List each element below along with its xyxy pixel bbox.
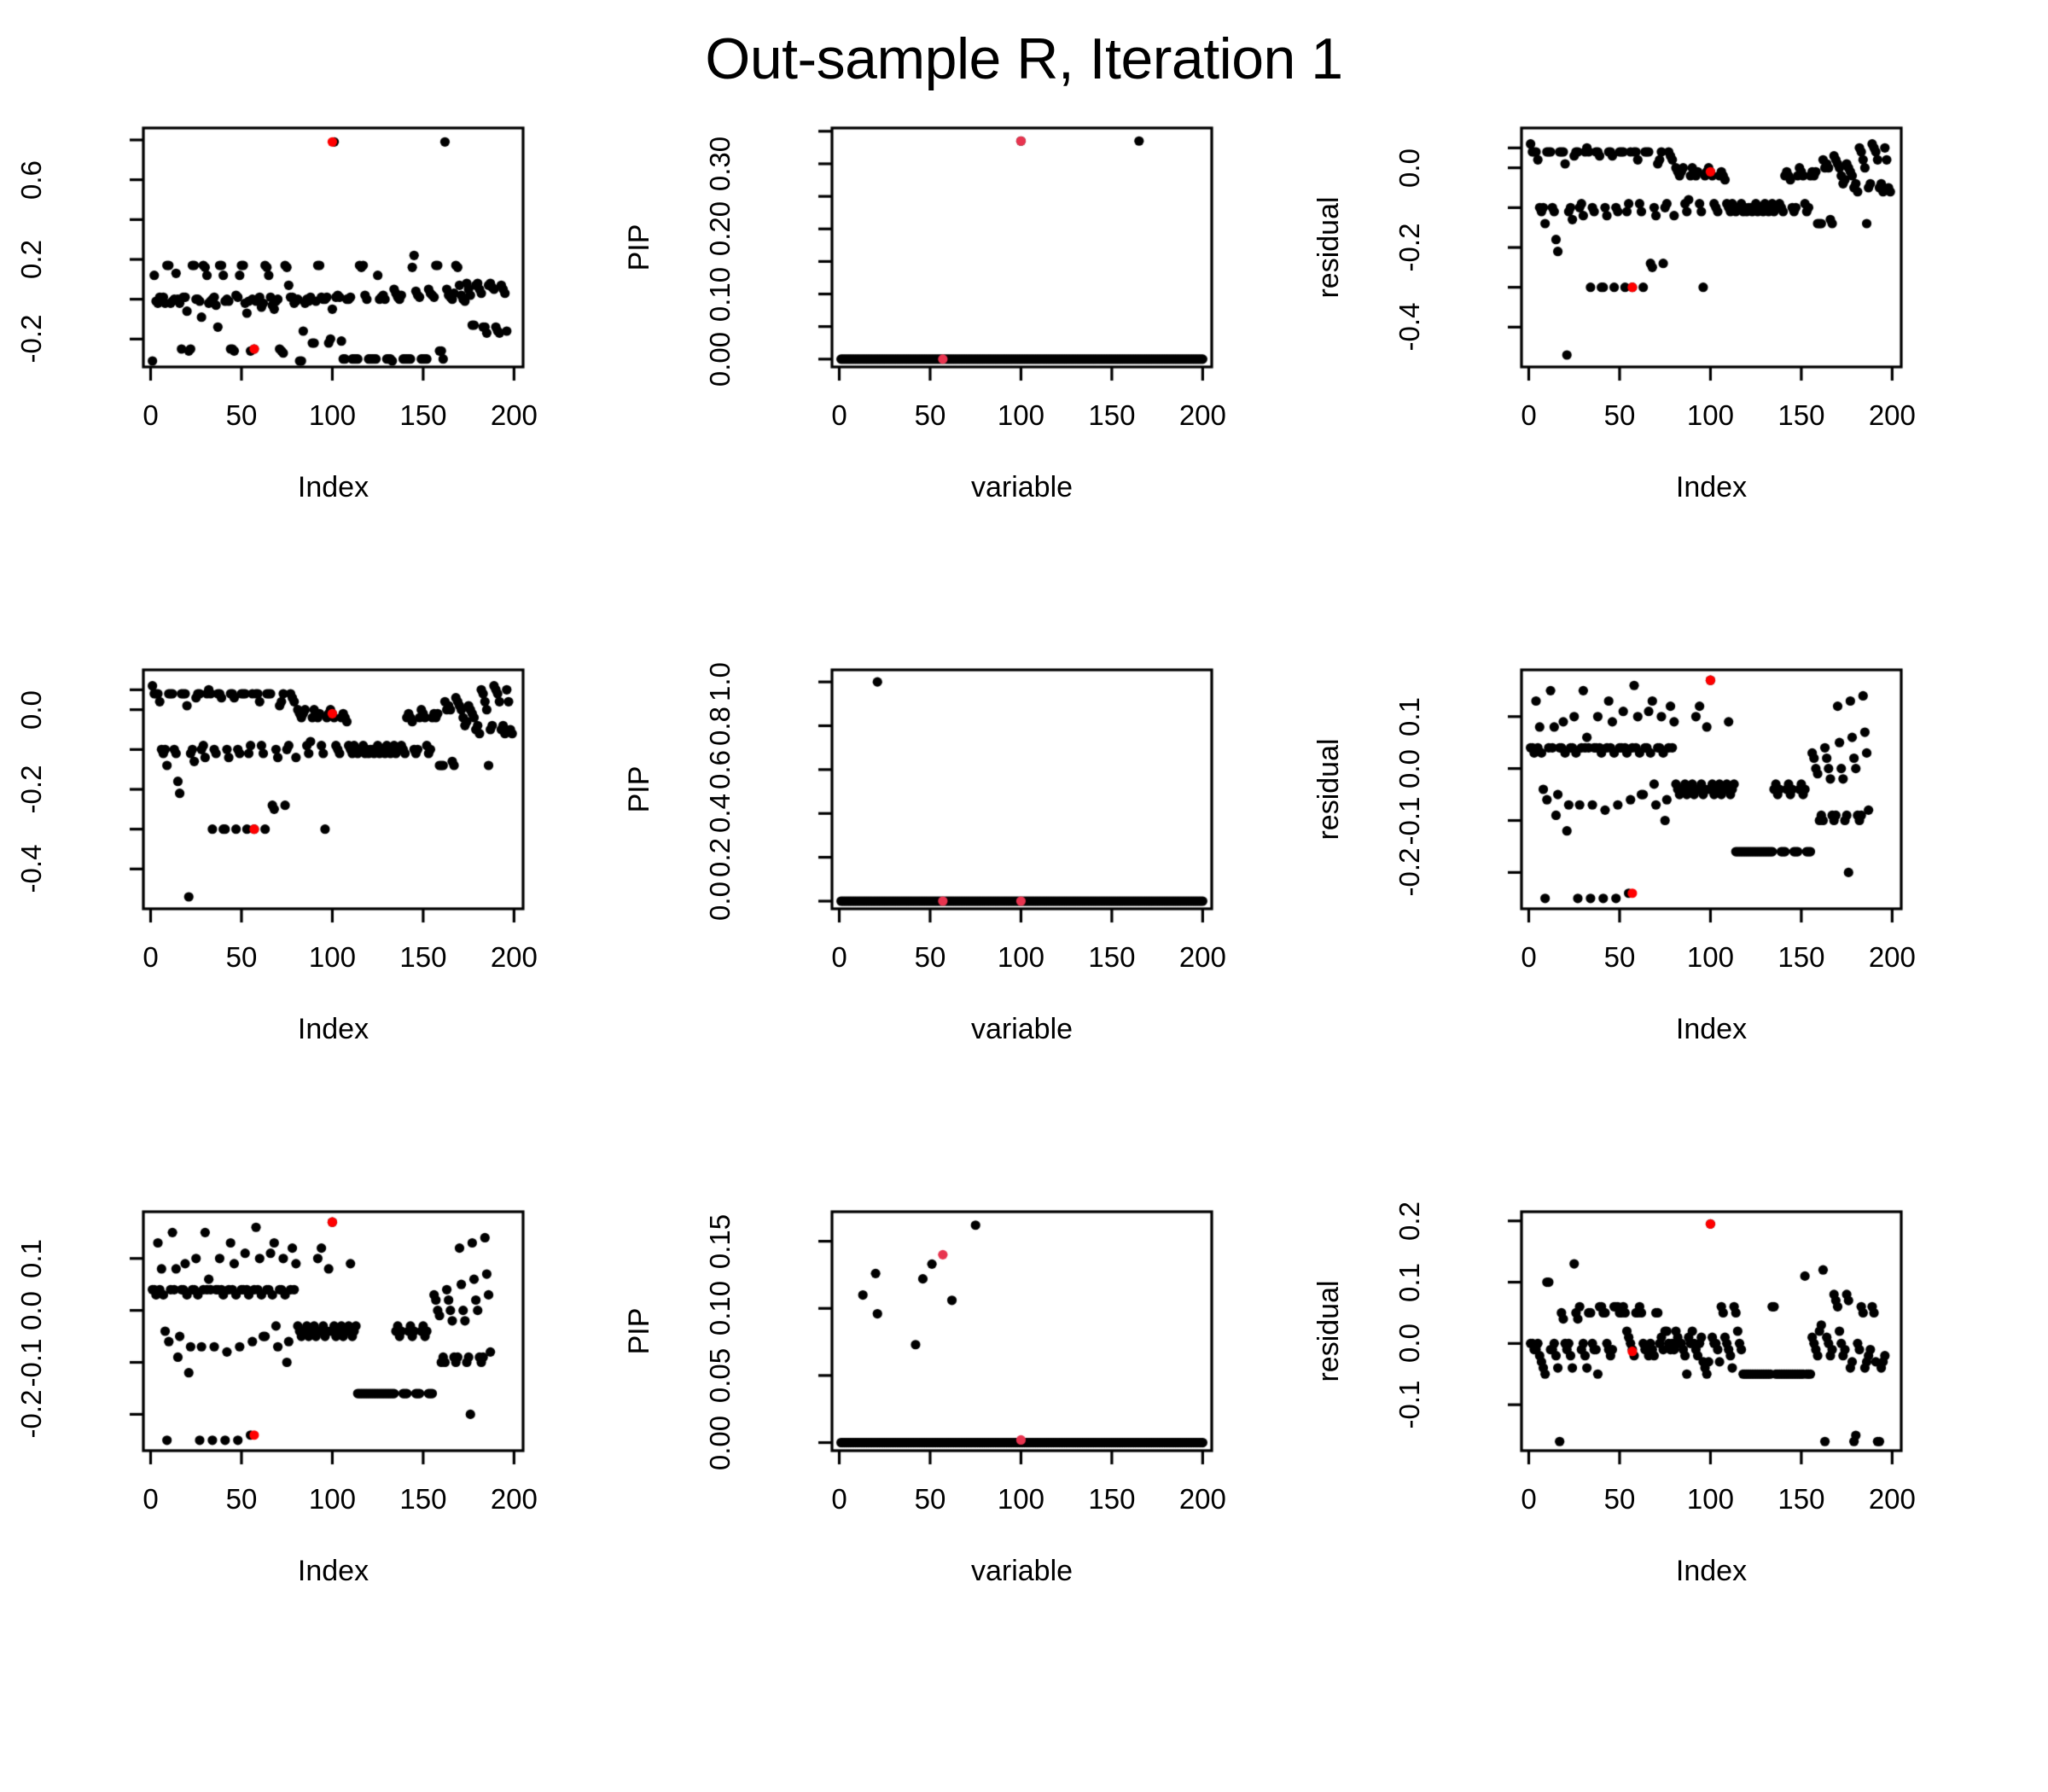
panel-7-xtick-label: 0: [143, 1483, 158, 1516]
panel-6-xtick-label: 100: [1687, 941, 1734, 974]
panel-8-xtick-label: 100: [998, 1483, 1044, 1516]
panel-2-xtick-label: 100: [998, 399, 1044, 432]
panel-6-xtick-label: 0: [1521, 941, 1536, 974]
panel-8-xtick-label: 50: [915, 1483, 946, 1516]
panel-3-ytick-label: -0.2: [1393, 224, 1426, 272]
panel-3-xtick-label: 0: [1521, 399, 1536, 432]
panel-6-xtick-label: 50: [1604, 941, 1636, 974]
panel-9-ytick-label: 0.1: [1393, 1263, 1426, 1302]
panel-7-ytick-label: 0.1: [15, 1239, 48, 1278]
panel-9-ylabel: residual: [1312, 1280, 1346, 1382]
panel-3-xlabel: Index: [1676, 471, 1747, 504]
panel-5-xtick-label: 200: [1179, 941, 1226, 974]
panel-5-ytick-label: 0.2: [704, 838, 736, 877]
panel-5-xtick-label: 0: [831, 941, 847, 974]
panel-9-ytick-label: -0.1: [1393, 1381, 1426, 1429]
panel-1-xtick-label: 100: [309, 399, 356, 432]
panel-8-xtick-label: 200: [1179, 1483, 1226, 1516]
panel-9-ytick-label: 0.2: [1393, 1201, 1426, 1241]
panel-6-ytick-label: 0.1: [1393, 697, 1426, 736]
panel-7-xtick-label: 100: [309, 1483, 356, 1516]
panel-2-ytick-label: 0.10: [704, 266, 736, 321]
panel-4-xtick-label: 0: [143, 941, 158, 974]
panel-6-xlabel: Index: [1676, 1013, 1747, 1046]
panel-1-ytick-label: 0.6: [15, 160, 48, 200]
panel-3-ytick-label: -0.4: [1393, 303, 1426, 352]
panel-9-xtick-label: 200: [1869, 1483, 1916, 1516]
panel-8-xlabel: variable: [971, 1555, 1073, 1588]
panel-7-xtick-label: 50: [226, 1483, 258, 1516]
panel-8-ytick-label: 0.05: [704, 1348, 736, 1403]
figure-title: Out-sample R, Iteration 1: [0, 26, 2048, 92]
panel-7-ytick-label: -0.2: [15, 1390, 48, 1439]
panel-6-ylabel: residual: [1312, 738, 1346, 840]
panel-3-xtick-label: 150: [1777, 399, 1824, 432]
panel-7-ytick-label: -0.1: [15, 1338, 48, 1387]
panel-6-xtick-label: 200: [1869, 941, 1916, 974]
panel-4-xtick-label: 50: [226, 941, 258, 974]
panel-8-ytick-label: 0.15: [704, 1213, 736, 1268]
panel-3-xtick-label: 200: [1869, 399, 1916, 432]
panel-8-xtick-label: 0: [831, 1483, 847, 1516]
panel-4-ytick-label: -0.2: [15, 765, 48, 814]
panel-5-xtick-label: 100: [998, 941, 1044, 974]
panel-3-xtick-label: 100: [1687, 399, 1734, 432]
panel-5-ytick-label: 0.6: [704, 750, 736, 789]
panel-7-xtick-label: 200: [491, 1483, 538, 1516]
panel-9-xtick-label: 100: [1687, 1483, 1734, 1516]
panel-7-ytick-label: 0.0: [15, 1291, 48, 1330]
panel-4-ytick-label: 0.0: [15, 690, 48, 730]
panel-3-ylabel: residual: [1312, 196, 1346, 298]
panel-7-xlabel: Index: [298, 1555, 369, 1588]
panel-2-ytick-label: 0.30: [704, 137, 736, 191]
panel-4-xtick-label: 200: [491, 941, 538, 974]
panel-8-xtick-label: 150: [1088, 1483, 1135, 1516]
panel-2-xlabel: variable: [971, 471, 1073, 504]
panel-1-xlabel: Index: [298, 471, 369, 504]
panel-9-xtick-label: 50: [1604, 1483, 1636, 1516]
panel-4-ytick-label: -0.4: [15, 845, 48, 893]
panel-6-xtick-label: 150: [1777, 941, 1824, 974]
panel-2-ytick-label: 0.20: [704, 201, 736, 256]
panel-5-xlabel: variable: [971, 1013, 1073, 1046]
panel-5-ytick-label: 0.4: [704, 794, 736, 833]
panel-6-ytick-label: 0.0: [1393, 749, 1426, 788]
panel-9-ytick-label: 0.0: [1393, 1324, 1426, 1363]
panel-7-xtick-label: 150: [399, 1483, 446, 1516]
panel-4-xlabel: Index: [298, 1013, 369, 1046]
panel-2-xtick-label: 0: [831, 399, 847, 432]
panel-4-xtick-label: 150: [399, 941, 446, 974]
panel-5-ytick-label: 0.8: [704, 707, 736, 746]
panel-8-ytick-label: 0.00: [704, 1415, 736, 1469]
panel-5-ytick-label: 1.0: [704, 662, 736, 701]
panel-5-xtick-label: 150: [1088, 941, 1135, 974]
panel-1-xtick-label: 0: [143, 399, 158, 432]
panel-2-ylabel: PIP: [623, 224, 656, 271]
panel-2-xtick-label: 150: [1088, 399, 1135, 432]
panel-6-ytick-label: -0.1: [1393, 796, 1426, 845]
panel-4-xtick-label: 100: [309, 941, 356, 974]
panel-9-xlabel: Index: [1676, 1555, 1747, 1588]
panel-3-xtick-label: 50: [1604, 399, 1636, 432]
panel-9-xtick-label: 150: [1777, 1483, 1824, 1516]
panel-6-ytick-label: -0.2: [1393, 848, 1426, 897]
panel-1-ytick-label: 0.2: [15, 240, 48, 279]
panel-3-ytick-label: 0.0: [1393, 148, 1426, 188]
panel-8-ylabel: PIP: [623, 1308, 656, 1355]
panel-8-ytick-label: 0.10: [704, 1281, 736, 1335]
panel-1-ytick-label: -0.2: [15, 315, 48, 364]
panel-1-xtick-label: 150: [399, 399, 446, 432]
panel-1-xtick-label: 200: [491, 399, 538, 432]
panel-5-ytick-label: 0.0: [704, 881, 736, 921]
panel-5-xtick-label: 50: [915, 941, 946, 974]
panel-5-ylabel: PIP: [623, 766, 656, 813]
panel-9-xtick-label: 0: [1521, 1483, 1536, 1516]
panel-2-xtick-label: 200: [1179, 399, 1226, 432]
figure-root: Out-sample R, Iteration 1 -0.20.20.60501…: [0, 0, 2048, 1792]
panel-2-xtick-label: 50: [915, 399, 946, 432]
panel-2-ytick-label: 0.00: [704, 332, 736, 387]
panel-1-xtick-label: 50: [226, 399, 258, 432]
